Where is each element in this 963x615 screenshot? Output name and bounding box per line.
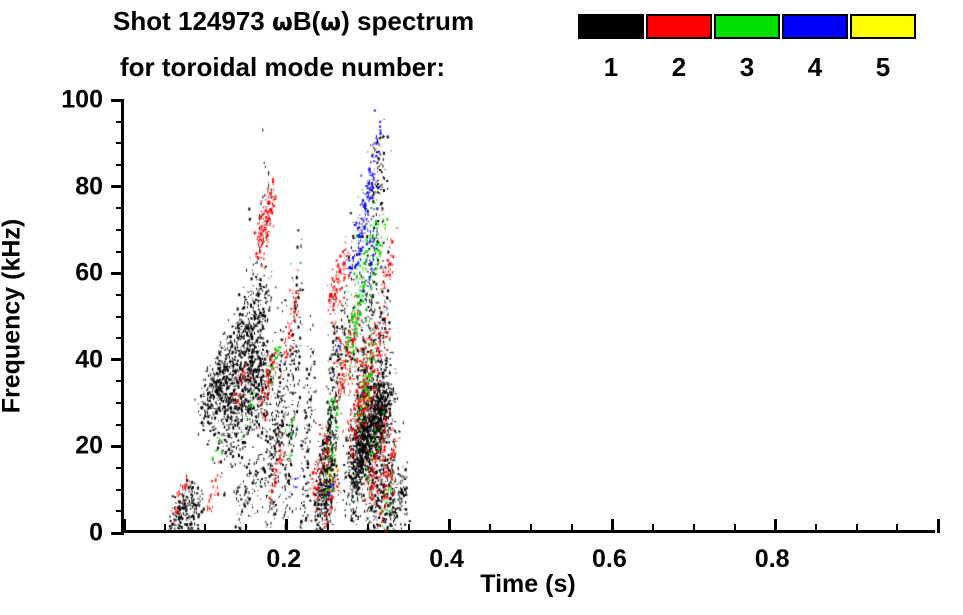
x-tick-minor xyxy=(571,524,573,533)
x-tick-major xyxy=(123,519,126,533)
x-tick-major xyxy=(448,519,451,533)
x-tick-major xyxy=(937,519,940,533)
y-tick-major xyxy=(111,185,124,188)
legend-swatch-2 xyxy=(646,14,712,39)
figure-root: Shot 124973 ωB(ω) spectrum for toroidal … xyxy=(0,0,963,615)
y-tick-minor xyxy=(116,251,124,253)
x-tick-label: 0.6 xyxy=(592,545,627,574)
y-tick-major xyxy=(111,99,124,102)
legend-swatch-3 xyxy=(714,14,780,39)
legend-label-1: 1 xyxy=(578,52,644,83)
x-tick-minor xyxy=(245,524,247,533)
y-tick-label: 80 xyxy=(75,172,103,201)
x-tick-minor xyxy=(856,524,858,533)
y-tick-minor xyxy=(116,316,124,318)
x-tick-label: 0.4 xyxy=(429,545,464,574)
legend-swatch-1 xyxy=(578,14,644,39)
y-tick-label: 40 xyxy=(75,345,103,374)
spectrogram-canvas xyxy=(124,100,938,533)
x-tick-minor xyxy=(164,524,166,533)
y-tick-major xyxy=(111,272,124,275)
y-tick-minor xyxy=(116,337,124,339)
plot-area xyxy=(121,100,935,533)
y-tick-minor xyxy=(116,402,124,404)
y-tick-minor xyxy=(116,294,124,296)
x-axis-title: Time (s) xyxy=(480,570,575,599)
y-tick-minor xyxy=(116,121,124,123)
x-tick-major xyxy=(774,519,777,533)
y-tick-label: 60 xyxy=(75,259,103,288)
x-tick-minor xyxy=(896,524,898,533)
x-tick-minor xyxy=(327,524,329,533)
y-tick-minor xyxy=(116,489,124,491)
y-tick-label: 20 xyxy=(75,432,103,461)
legend-label-4: 4 xyxy=(782,52,848,83)
x-tick-minor xyxy=(815,524,817,533)
x-tick-minor xyxy=(734,524,736,533)
x-tick-major xyxy=(611,519,614,533)
x-tick-minor xyxy=(408,524,410,533)
x-tick-minor xyxy=(693,524,695,533)
x-tick-label: 0.8 xyxy=(755,545,790,574)
y-tick-label: 100 xyxy=(61,86,103,115)
y-tick-minor xyxy=(116,510,124,512)
x-tick-minor xyxy=(652,524,654,533)
y-tick-minor xyxy=(116,229,124,231)
y-tick-minor xyxy=(116,380,124,382)
x-tick-minor xyxy=(367,524,369,533)
x-tick-minor xyxy=(530,524,532,533)
legend-label-3: 3 xyxy=(714,52,780,83)
y-tick-minor xyxy=(116,142,124,144)
x-tick-minor xyxy=(204,524,206,533)
y-tick-major xyxy=(111,445,124,448)
y-tick-major xyxy=(111,358,124,361)
legend-swatch-4 xyxy=(782,14,848,39)
legend-swatch-5 xyxy=(850,14,916,39)
x-tick-minor xyxy=(489,524,491,533)
x-tick-major xyxy=(285,519,288,533)
y-tick-minor xyxy=(116,207,124,209)
y-tick-minor xyxy=(116,467,124,469)
legend-label-5: 5 xyxy=(850,52,916,83)
legend-label-2: 2 xyxy=(646,52,712,83)
y-tick-minor xyxy=(116,164,124,166)
y-tick-minor xyxy=(116,424,124,426)
legend: 12345 xyxy=(0,0,963,96)
y-axis-title: Frequency (kHz) xyxy=(0,219,27,413)
x-tick-label: 0.2 xyxy=(266,545,301,574)
y-tick-label: 0 xyxy=(89,519,103,548)
